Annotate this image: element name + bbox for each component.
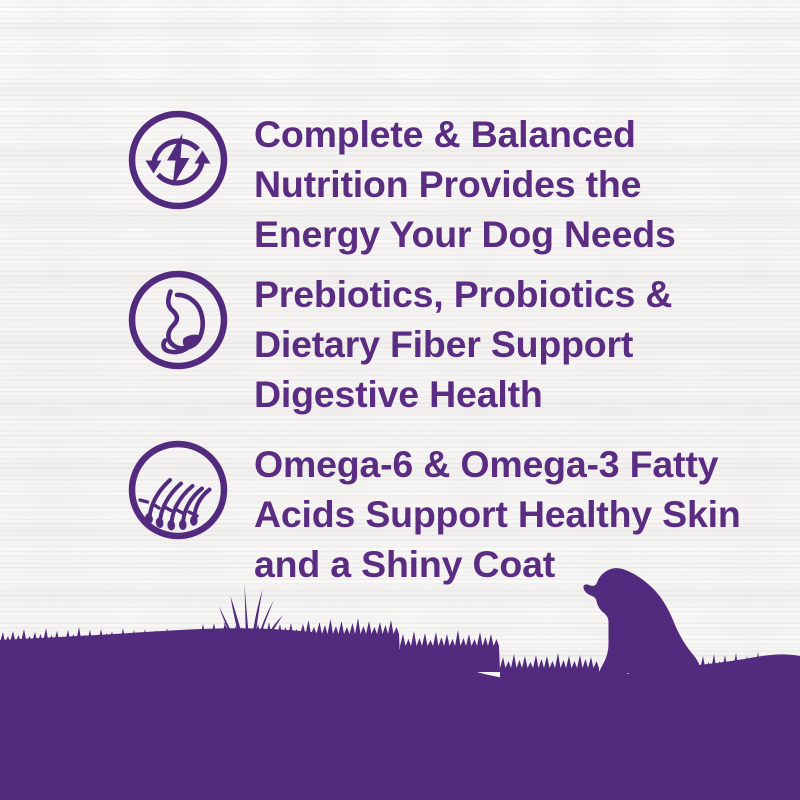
feature-item-digestive: Prebiotics, Probiotics & Dietary Fiber S… (126, 268, 672, 419)
feature-item-nutrition: Complete & Balanced Nutrition Provides t… (126, 108, 676, 259)
energy-cycle-icon (126, 108, 230, 212)
hair-follicle-skin-coat-icon (126, 438, 230, 542)
feature-text-digestive: Prebiotics, Probiotics & Dietary Fiber S… (254, 268, 672, 419)
bottom-scene (0, 560, 800, 800)
feature-text-nutrition: Complete & Balanced Nutrition Provides t… (254, 108, 676, 259)
stomach-digestion-icon (126, 268, 230, 372)
promo-banner: Complete & Balanced Nutrition Provides t… (0, 0, 800, 800)
